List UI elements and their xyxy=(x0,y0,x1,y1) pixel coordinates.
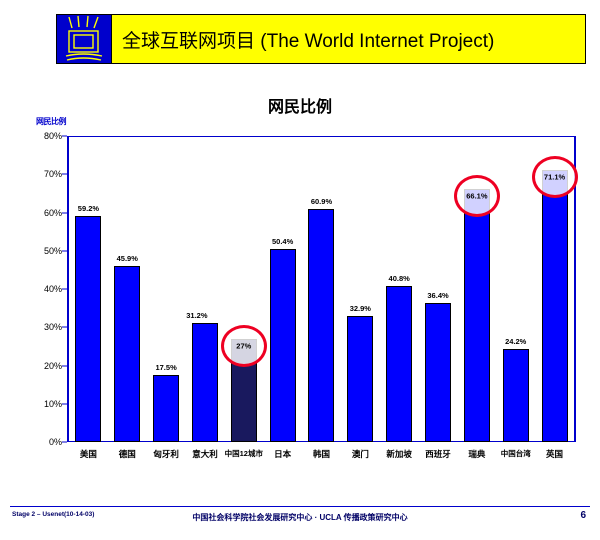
x-axis-category-label: 中国台湾 xyxy=(501,448,531,459)
bar-value-label: 59.2% xyxy=(78,204,99,213)
bar-slot: 59.2% xyxy=(69,136,108,442)
y-axis-tick-label: 80% xyxy=(44,131,62,141)
x-axis-category-label: 新加坡 xyxy=(386,448,412,460)
chart-title: 网民比例 xyxy=(0,93,600,117)
bar[interactable] xyxy=(75,216,101,442)
y-axis-tick-label: 60% xyxy=(44,208,62,218)
y-axis-tick-label: 10% xyxy=(44,399,62,409)
y-axis-ticks: 0%10%20%30%40%50%60%70%80% xyxy=(28,136,68,452)
bar-value-label: 50.4% xyxy=(272,237,293,246)
highlight-value-label: 71.1% xyxy=(544,173,565,182)
bar[interactable] xyxy=(464,189,490,442)
highlight-value-label: 66.1% xyxy=(466,192,487,201)
bar-value-label: 31.2% xyxy=(186,311,207,320)
highlight-ellipse-annotation: 66.1% xyxy=(454,175,500,217)
highlight-ellipse-annotation: 71.1% xyxy=(532,156,578,198)
x-axis-category-label: 意大利 xyxy=(192,448,218,460)
bar-slot: 45.9% xyxy=(108,136,147,442)
x-axis-category-label: 德国 xyxy=(119,448,136,460)
bar-slot: 31.2% xyxy=(186,136,225,442)
bar-series: 59.2%45.9%17.5%31.2%50.4%60.9%32.9%40.8%… xyxy=(69,136,574,442)
footer-center-text: 中国社会科学院社会发展研究中心 · UCLA 传播政策研究中心 xyxy=(0,512,600,523)
y-axis-tick-label: 50% xyxy=(44,246,62,256)
bar-value-label: 45.9% xyxy=(117,254,138,263)
bar-slot: 40.8% xyxy=(380,136,419,442)
bar[interactable] xyxy=(153,375,179,442)
bar-slot: 60.9% xyxy=(302,136,341,442)
bar[interactable] xyxy=(114,266,140,442)
x-axis-category-label: 韩国 xyxy=(313,448,330,460)
bar[interactable] xyxy=(270,249,296,442)
y-axis-tick-label: 30% xyxy=(44,322,62,332)
bar[interactable] xyxy=(347,316,373,442)
bar[interactable] xyxy=(542,170,568,442)
bar[interactable] xyxy=(425,303,451,442)
chart-plot-area: 0%10%20%30%40%50%60%70%80% 59.2%45.9%17.… xyxy=(28,136,576,452)
y-axis-tick-label: 70% xyxy=(44,169,62,179)
x-axis-category-label: 澳门 xyxy=(352,448,369,460)
highlight-value-label: 27% xyxy=(236,341,251,350)
x-axis-category-label: 匈牙利 xyxy=(153,448,179,460)
footer-page-number: 6 xyxy=(580,510,586,521)
x-axis-category-label: 英国 xyxy=(546,448,563,460)
bar-value-label: 36.4% xyxy=(427,291,448,300)
bar-value-label: 24.2% xyxy=(505,337,526,346)
bar-value-label: 32.9% xyxy=(350,304,371,313)
x-axis-category-label: 美国 xyxy=(80,448,97,460)
bar-value-label: 40.8% xyxy=(389,274,410,283)
bar[interactable] xyxy=(192,323,218,442)
bar-slot: 24.2% xyxy=(496,136,535,442)
bar-slot: 36.4% xyxy=(419,136,458,442)
banner-title-text: 全球互联网项目 (The World Internet Project) xyxy=(112,15,585,63)
bar-slot: 50.4% xyxy=(263,136,302,442)
x-axis-category-label: 瑞典 xyxy=(468,448,485,460)
bar[interactable] xyxy=(503,349,529,442)
x-axis-labels: 美国德国匈牙利意大利中国12城市日本韩国澳门新加坡西班牙瑞典中国台湾英国 xyxy=(69,448,574,474)
highlight-ellipse-annotation: 27% xyxy=(221,325,267,367)
x-axis-category-label: 日本 xyxy=(274,448,291,460)
bar-slot xyxy=(224,136,263,442)
x-axis-category-label: 中国12城市 xyxy=(225,448,263,459)
y-axis-tick-label: 20% xyxy=(44,361,62,371)
y-axis-title: 网民比例 xyxy=(36,116,66,127)
footer-divider xyxy=(10,506,590,507)
y-axis-tick-label: 40% xyxy=(44,284,62,294)
crt-monitor-icon xyxy=(57,15,112,63)
bar-slot: 17.5% xyxy=(147,136,186,442)
x-axis-category-label: 西班牙 xyxy=(425,448,451,460)
bar[interactable] xyxy=(308,209,334,442)
bar-slot: 32.9% xyxy=(341,136,380,442)
bar-value-label: 17.5% xyxy=(155,363,176,372)
bar[interactable] xyxy=(386,286,412,442)
bar-value-label: 60.9% xyxy=(311,197,332,206)
y-axis-tick-label: 0% xyxy=(49,437,62,447)
title-banner: 全球互联网项目 (The World Internet Project) xyxy=(56,14,586,64)
